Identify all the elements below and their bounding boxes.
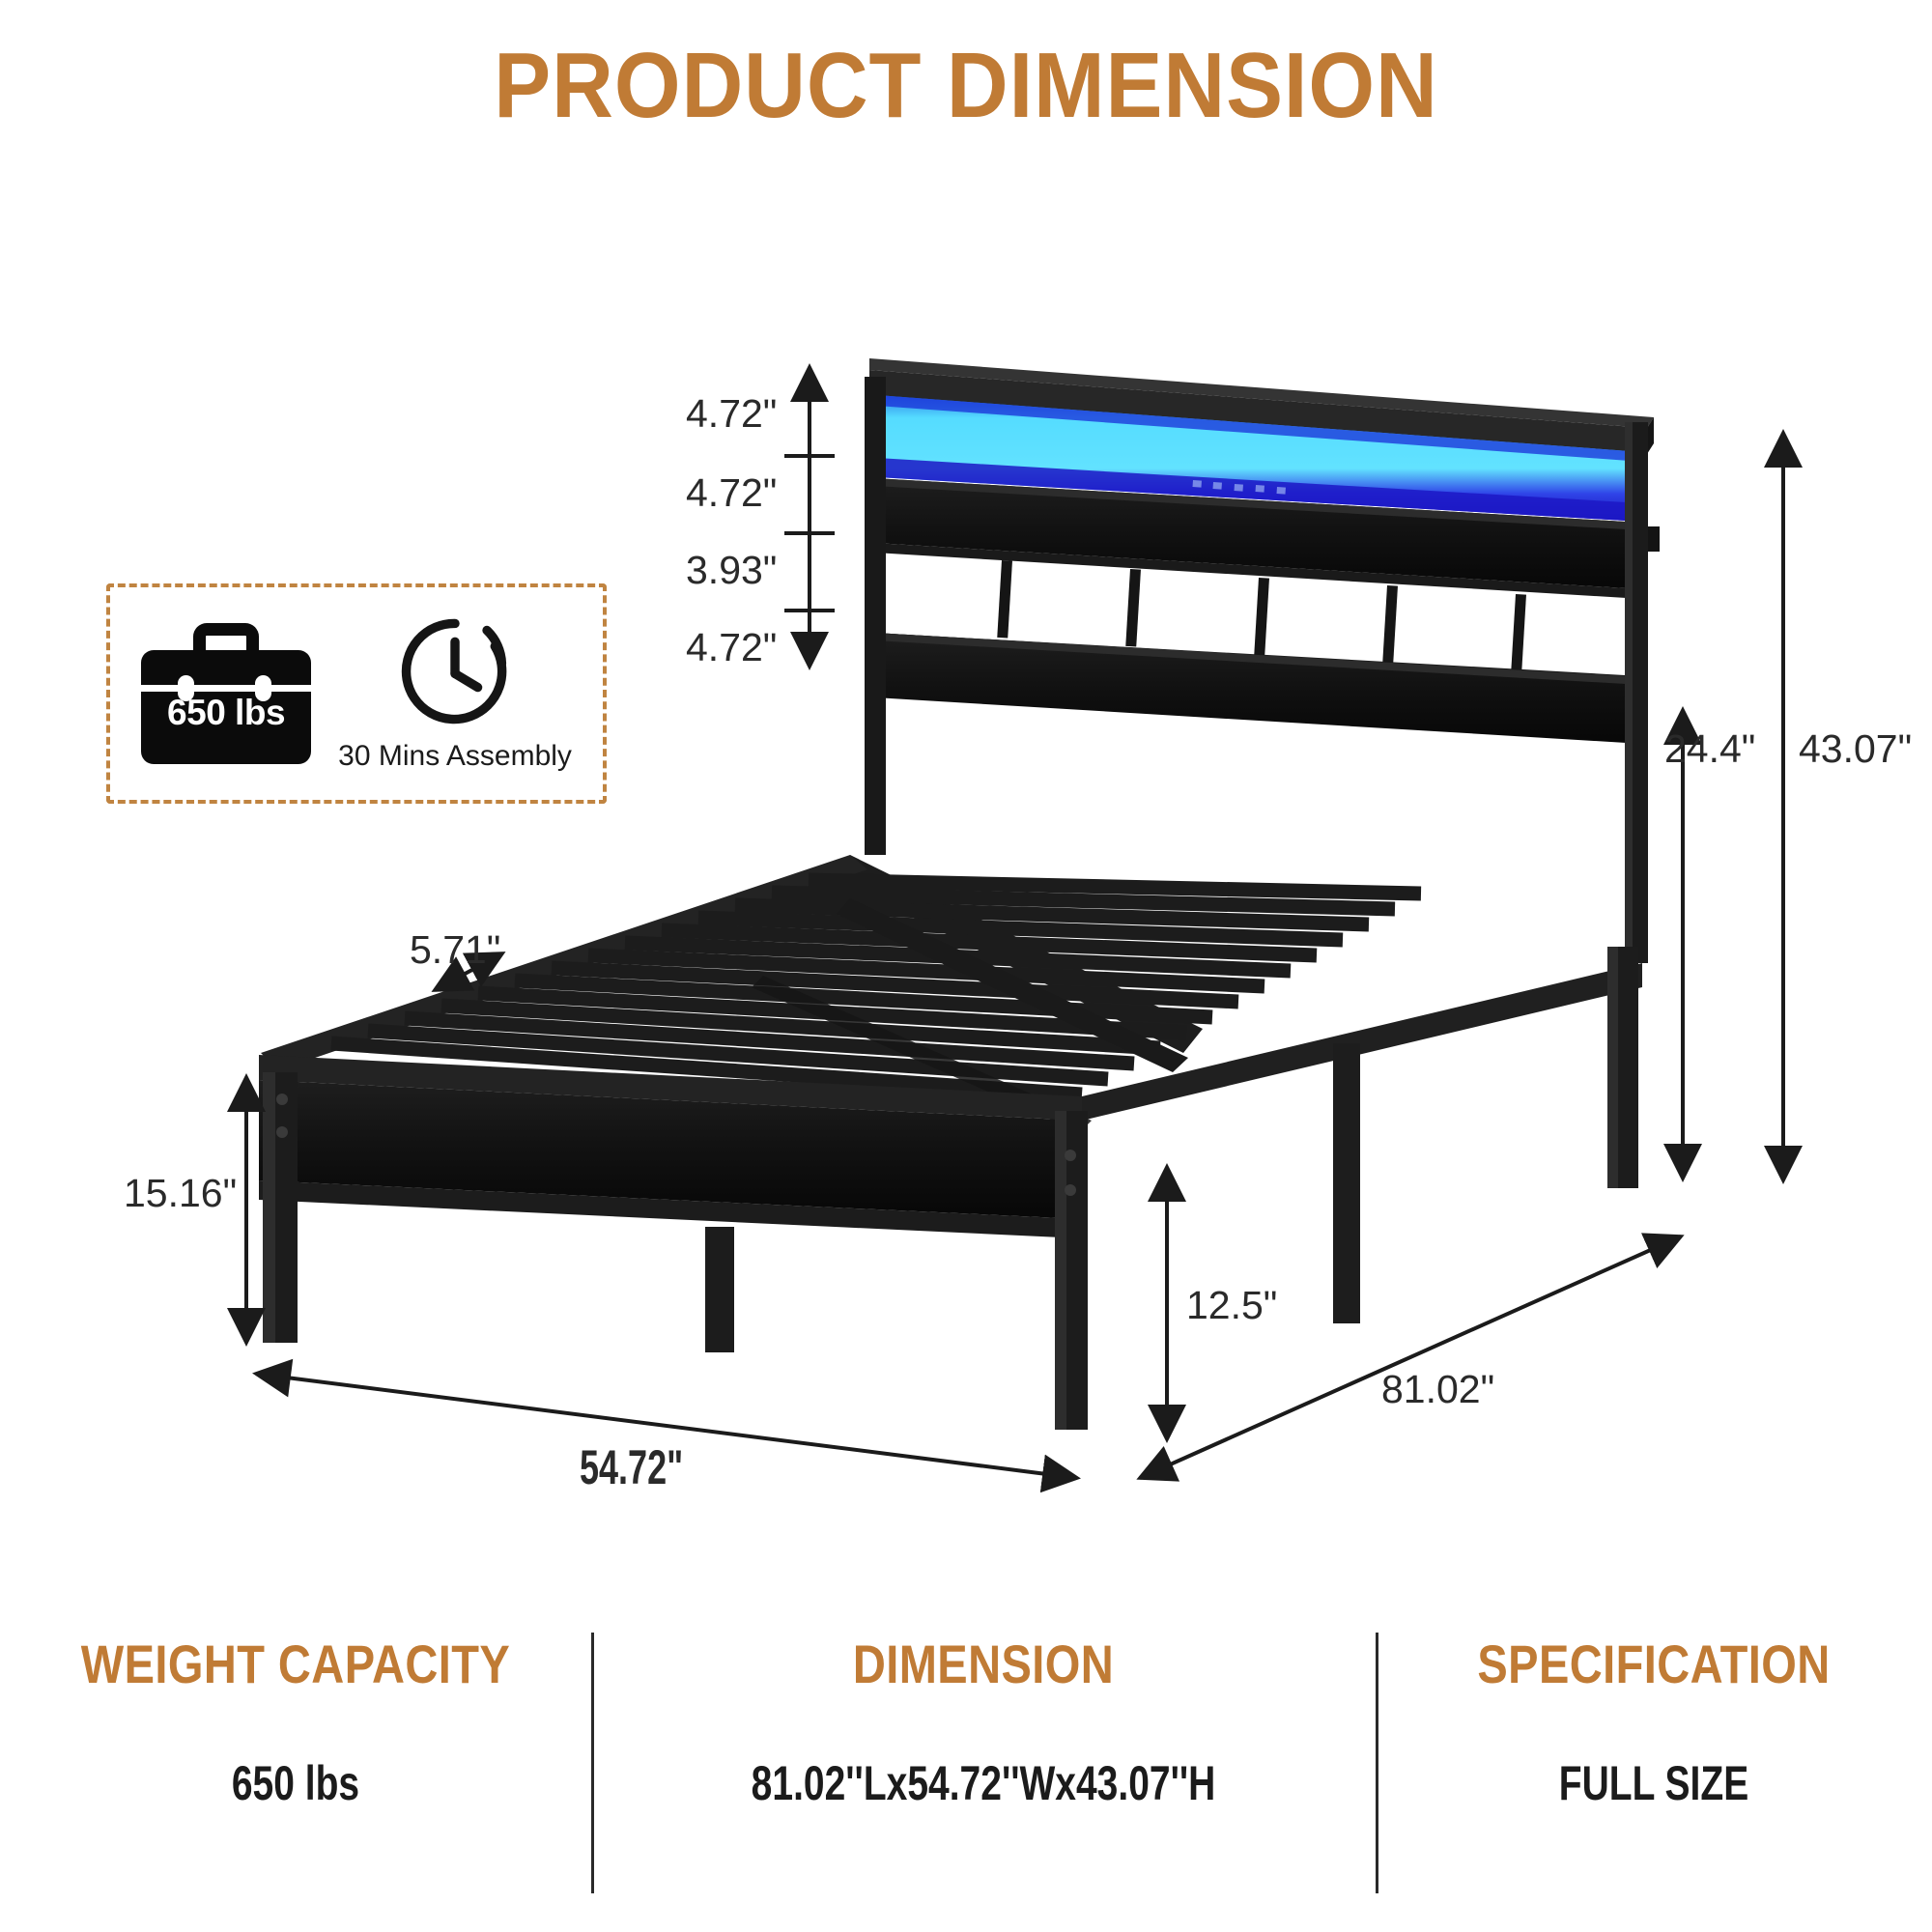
info-value: FULL SIZE: [1436, 1755, 1870, 1811]
dimension-arrows: [246, 367, 1783, 1478]
leg-mid-right: [1333, 1043, 1360, 1323]
headboard-top-cap: [869, 358, 1654, 454]
leg-front-center: [705, 1227, 734, 1352]
headboard-open-shelf: [874, 543, 1642, 688]
dim-label-clearance: 12.5": [1186, 1283, 1277, 1328]
leg-front-left: [263, 1072, 298, 1343]
assembly-time-badge: 30 Mins Assembly: [338, 614, 572, 773]
feature-badge: 650 lbs 30 Mins Assembly: [106, 583, 607, 804]
dim-label-seg-3: 3.93": [686, 548, 777, 593]
headboard-right-post: [1625, 422, 1648, 963]
dim-label-width: 54.72": [580, 1439, 683, 1495]
info-column-dimension: DIMENSION 81.02''Lx54.72''Wx43.07''H: [591, 1633, 1376, 1811]
info-heading: DIMENSION: [654, 1633, 1313, 1695]
page-title: PRODUCT DIMENSION: [77, 33, 1855, 139]
footboard-panel: [259, 1080, 1082, 1219]
bottom-info-bar: WEIGHT CAPACITY 650 lbs DIMENSION 81.02'…: [0, 1633, 1932, 1932]
info-value: 81.02''Lx54.72''Wx43.07''H: [677, 1755, 1289, 1811]
weight-capacity-badge: 650 lbs: [141, 623, 311, 764]
assembly-time-label: 30 Mins Assembly: [338, 740, 572, 773]
dim-label-length: 81.02": [1381, 1367, 1494, 1412]
weight-value-label: 650 lbs: [141, 693, 311, 733]
dim-label-seg-4: 4.72": [686, 625, 777, 670]
dim-label-seg-1: 4.72": [686, 391, 777, 437]
clock-icon: [398, 614, 512, 728]
info-heading: WEIGHT CAPACITY: [47, 1633, 544, 1695]
leg-front-right: [1055, 1111, 1088, 1430]
dim-label-frame-height: 15.16": [124, 1171, 237, 1216]
info-column-specification: SPECIFICATION FULL SIZE: [1376, 1633, 1932, 1811]
headboard-left-post: [865, 377, 886, 855]
product-dimension-infographic: PRODUCT DIMENSION 650 lbs 30 Mins Assemb…: [0, 0, 1932, 1932]
headboard-lower-panel: [874, 633, 1642, 744]
leg-head-right: [1607, 947, 1638, 1188]
info-column-weight-capacity: WEIGHT CAPACITY 650 lbs: [0, 1633, 591, 1811]
dim-label-seg-2: 4.72": [686, 470, 777, 516]
dim-label-slat-spacing: 5.71": [410, 927, 500, 973]
info-value: 650 lbs: [65, 1755, 526, 1811]
headboard-upper-panel: [874, 478, 1642, 589]
dim-label-headboard-to-floor: 24.4": [1664, 726, 1755, 772]
headboard-led-strip: [877, 395, 1642, 522]
toolbox-icon: 650 lbs: [141, 623, 311, 764]
info-heading: SPECIFICATION: [1420, 1633, 1888, 1695]
dim-label-total-height: 43.07": [1799, 726, 1912, 772]
